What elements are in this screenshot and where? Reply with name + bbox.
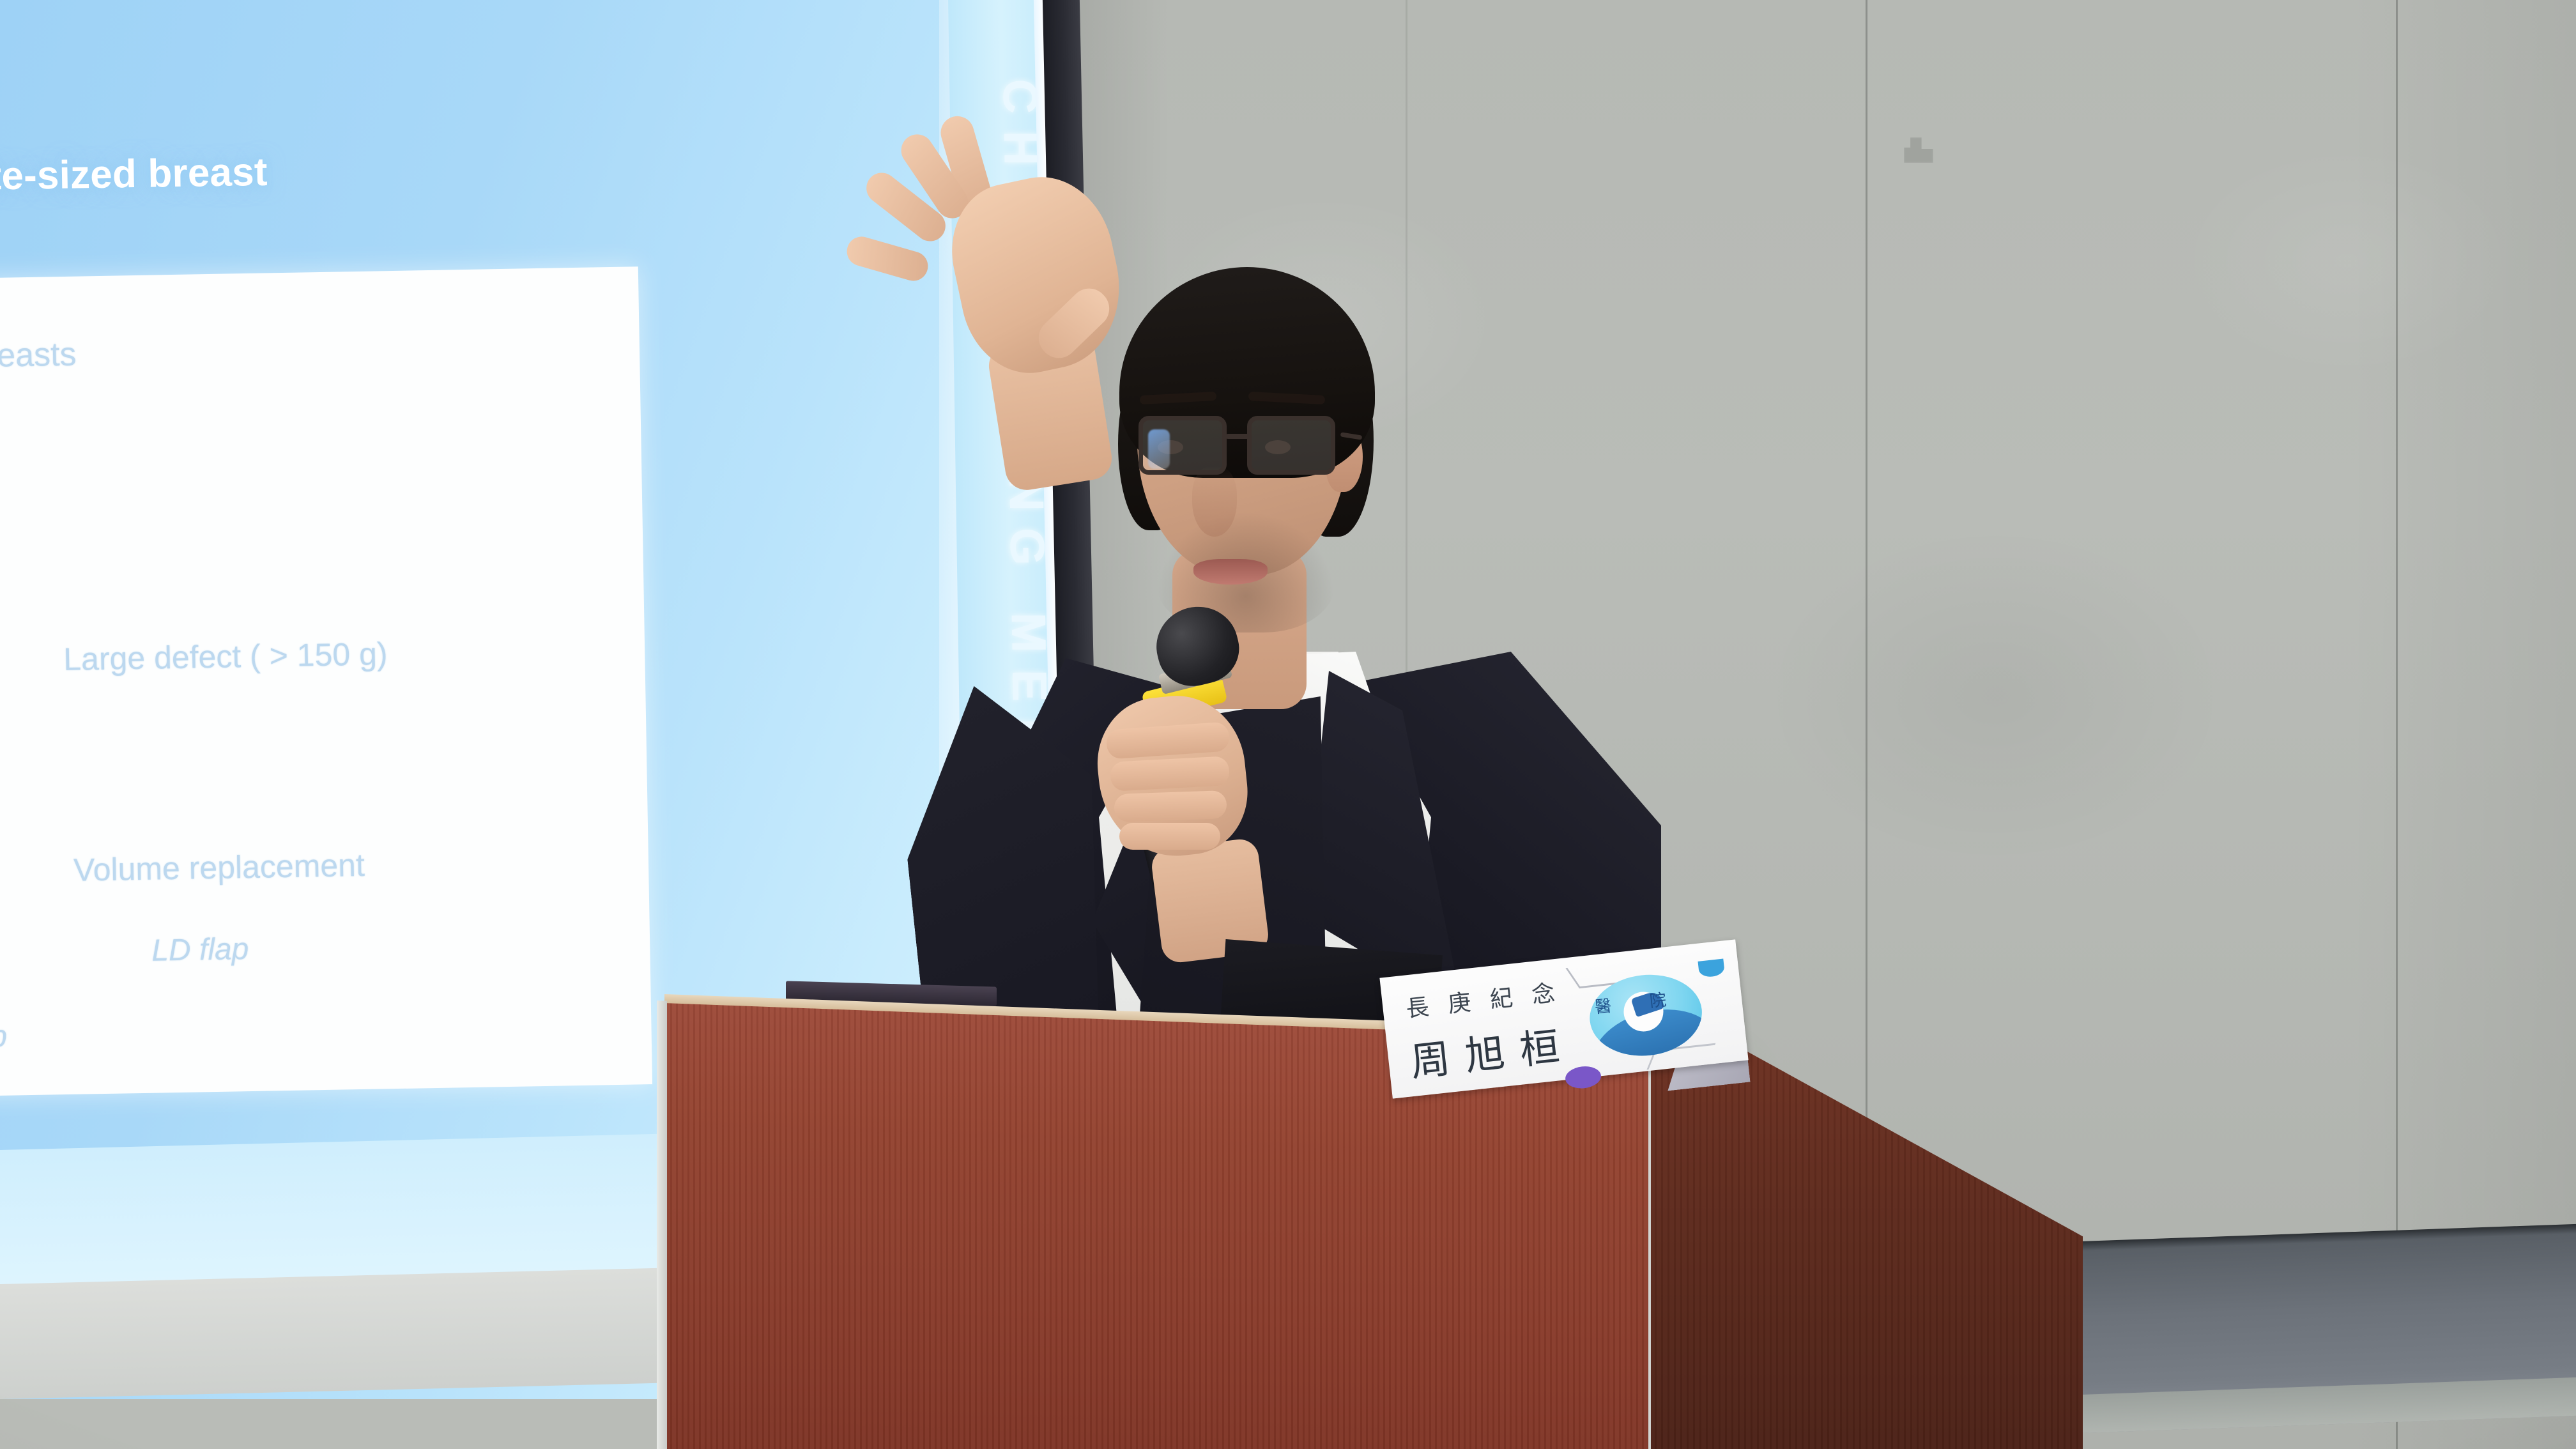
lens-right [1247,416,1335,475]
lens-glint [1148,429,1170,469]
placard-decor-dot-top [1698,959,1725,978]
eyeglasses [1137,412,1354,482]
slide-line-volume-replacement: Volume replacement [73,847,365,889]
glasses-bridge [1225,434,1250,439]
slide-line-ld-flap: LD flap [151,931,249,969]
placard-speaker-name: 周旭桓 [1407,1013,1577,1087]
presentation-photo: to moderate-sized breast breasts 50 g) L… [0,0,2576,1449]
slide-line-flap-left: l flap [0,1019,7,1055]
slide-line-breasts: breasts [0,335,77,376]
mouth [1193,559,1268,585]
slide-line-large-defect: Large defect ( > 150 g) [63,635,388,678]
right-finger-ring [1114,790,1227,822]
slide-title: to moderate-sized breast [0,140,882,203]
slide-content-card: breasts 50 g) Large defect ( > 150 g) Vo… [0,266,652,1100]
right-finger-middle [1110,756,1230,792]
lens-left [1138,416,1227,475]
right-finger-pinky [1119,823,1220,850]
podium-left-edge [657,1000,667,1449]
